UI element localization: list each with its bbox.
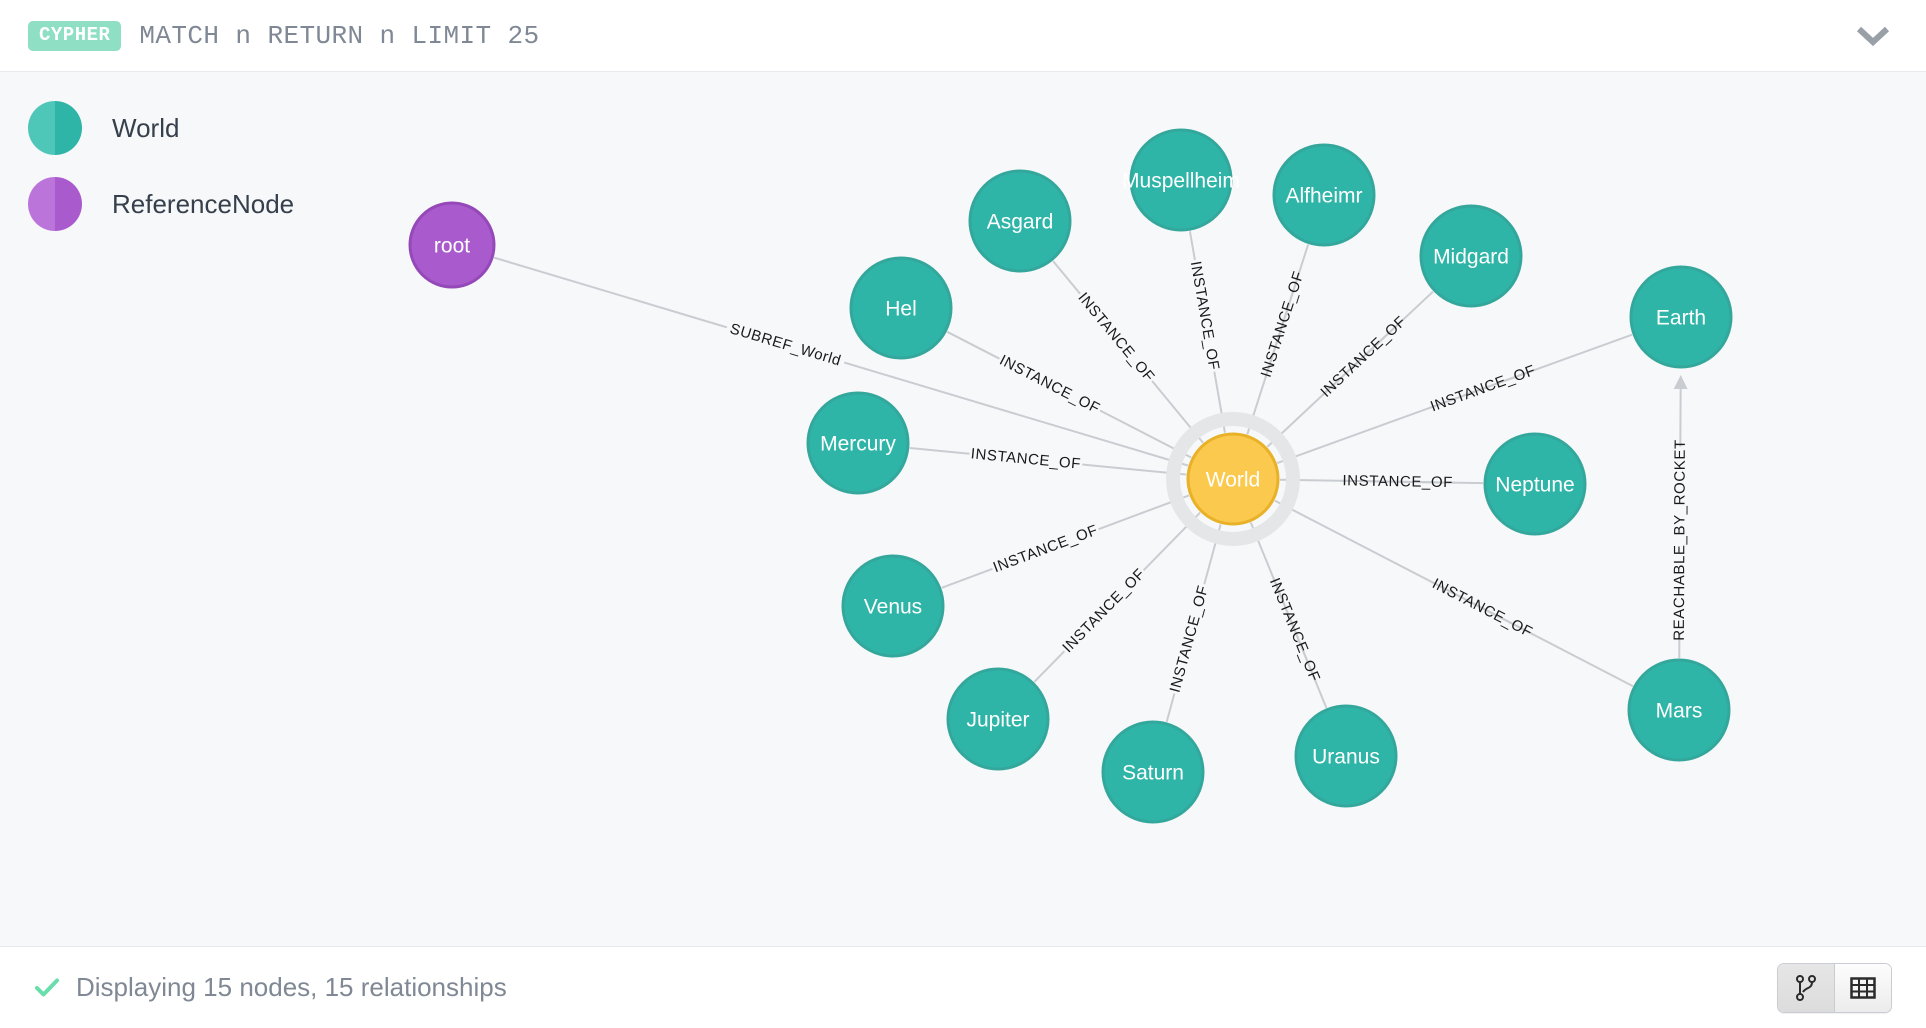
relationship-label: INSTANCE_OF xyxy=(1317,313,1409,401)
chevron-down-icon xyxy=(1856,25,1890,47)
graph-node-world[interactable]: World xyxy=(1173,419,1293,539)
relationship-line xyxy=(494,258,727,328)
graph-node-root[interactable]: root xyxy=(410,203,494,287)
relationship-label: INSTANCE_OF xyxy=(1167,583,1213,694)
node-label: Neptune xyxy=(1495,474,1574,497)
node-label: Mercury xyxy=(820,433,896,456)
table-icon xyxy=(1850,977,1876,999)
relationship-label: INSTANCE_OF xyxy=(970,445,1082,472)
cypher-language-badge: CYPHER xyxy=(28,21,121,51)
relationship-line xyxy=(942,569,993,588)
check-icon xyxy=(34,975,60,1001)
relationship-label: INSTANCE_OF xyxy=(1059,565,1148,656)
relationship-label: INSTANCE_OF xyxy=(1429,575,1535,641)
status-bar: Displaying 15 nodes, 15 relationships xyxy=(0,946,1926,1028)
relationship-label: REACHABLE_BY_ROCKET xyxy=(1671,439,1689,641)
relationship-label: INSTANCE_OF xyxy=(1074,289,1157,385)
relationship-line xyxy=(947,332,999,359)
graph-node-midgard[interactable]: Midgard xyxy=(1421,206,1521,306)
node-label: Asgard xyxy=(987,211,1054,234)
table-view-button[interactable] xyxy=(1834,964,1891,1012)
graph-node-muspellheim[interactable]: Muspellheim xyxy=(1122,130,1240,230)
relationship-line xyxy=(1167,693,1175,721)
relationship-line xyxy=(1034,651,1064,682)
node-label: Jupiter xyxy=(966,709,1029,732)
graph-node-alfheimr[interactable]: Alfheimr xyxy=(1274,145,1374,245)
graph-node-jupiter[interactable]: Jupiter xyxy=(948,669,1048,769)
status-summary: Displaying 15 nodes, 15 relationships xyxy=(34,972,507,1003)
relationship-label: INSTANCE_OF xyxy=(1258,269,1308,379)
relationship[interactable]: INSTANCE_OF xyxy=(1275,501,1633,686)
relationship-label: INSTANCE_OF xyxy=(997,352,1103,418)
legend-item-world[interactable]: World xyxy=(28,100,294,156)
node-label: Hel xyxy=(885,298,917,321)
legend-swatch-referencenode xyxy=(28,177,82,231)
legend-label-world: World xyxy=(112,113,179,144)
relationship[interactable]: INSTANCE_OF xyxy=(1247,245,1308,435)
legend-label-referencenode: ReferenceNode xyxy=(112,189,294,220)
legend-swatch-world xyxy=(28,101,82,155)
neo4j-graph-result-panel: CYPHER MATCH n RETURN n LIMIT 25 SUBREF_… xyxy=(0,0,1926,1028)
graph-node-hel[interactable]: Hel xyxy=(851,258,951,358)
graph-node-asgard[interactable]: Asgard xyxy=(970,171,1070,271)
relationship[interactable]: INSTANCE_OF xyxy=(1251,523,1327,708)
view-toggle-group xyxy=(1777,963,1892,1013)
node-label: Mars xyxy=(1656,700,1703,723)
node-label: Saturn xyxy=(1122,762,1184,785)
collapse-result-button[interactable] xyxy=(1846,16,1900,56)
graph-node-neptune[interactable]: Neptune xyxy=(1485,434,1585,534)
relationship[interactable]: INSTANCE_OF xyxy=(942,495,1189,587)
graph-icon xyxy=(1795,975,1817,1001)
relationship-label: SUBREF_World xyxy=(728,320,843,369)
relationship[interactable]: INSTANCE_OF xyxy=(947,332,1191,458)
relationship-label: INSTANCE_OF xyxy=(1187,260,1223,372)
node-label: root xyxy=(434,235,470,258)
status-text: Displaying 15 nodes, 15 relationships xyxy=(76,972,507,1003)
relationship[interactable]: INSTANCE_OF xyxy=(1167,524,1221,721)
query-text: MATCH n RETURN n LIMIT 25 xyxy=(139,21,539,51)
relationship[interactable]: INSTANCE_OF xyxy=(1053,261,1203,443)
relationship-line xyxy=(910,448,970,454)
relationship-label: INSTANCE_OF xyxy=(1428,362,1538,416)
node-label: Midgard xyxy=(1433,246,1509,269)
relationship[interactable]: REACHABLE_BY_ROCKET xyxy=(1671,377,1689,658)
graph-node-saturn[interactable]: Saturn xyxy=(1103,722,1203,822)
legend-item-referencenode[interactable]: ReferenceNode xyxy=(28,176,294,232)
relationship[interactable]: INSTANCE_OF xyxy=(1187,231,1225,432)
relationship[interactable]: INSTANCE_OF xyxy=(1280,472,1483,491)
legend: World ReferenceNode xyxy=(28,100,294,252)
node-label: Venus xyxy=(864,596,922,619)
graph-view-button[interactable] xyxy=(1778,964,1834,1012)
graph-node-mars[interactable]: Mars xyxy=(1629,660,1729,760)
graph-canvas[interactable]: SUBREF_WorldINSTANCE_OFINSTANCE_OFINSTAN… xyxy=(0,72,1926,946)
node-label: World xyxy=(1206,469,1260,492)
node-label: Muspellheim xyxy=(1122,170,1240,193)
graph-node-mercury[interactable]: Mercury xyxy=(808,393,908,493)
node-label: Earth xyxy=(1656,307,1706,330)
query-bar: CYPHER MATCH n RETURN n LIMIT 25 xyxy=(0,0,1926,72)
node-layer: rootHelAsgardMuspellheimAlfheimrMidgardE… xyxy=(410,130,1731,822)
relationship-label: INSTANCE_OF xyxy=(991,522,1100,577)
relationship[interactable]: INSTANCE_OF xyxy=(910,445,1186,474)
relationship-label: INSTANCE_OF xyxy=(1266,576,1323,685)
graph-node-uranus[interactable]: Uranus xyxy=(1296,706,1396,806)
relationship-line xyxy=(1053,261,1080,294)
relationship-label: INSTANCE_OF xyxy=(1342,472,1453,491)
graph-node-venus[interactable]: Venus xyxy=(843,556,943,656)
relationship-line xyxy=(1190,231,1195,260)
graph-node-earth[interactable]: Earth xyxy=(1631,267,1731,367)
node-label: Alfheimr xyxy=(1285,185,1362,208)
node-label: Uranus xyxy=(1312,746,1380,769)
